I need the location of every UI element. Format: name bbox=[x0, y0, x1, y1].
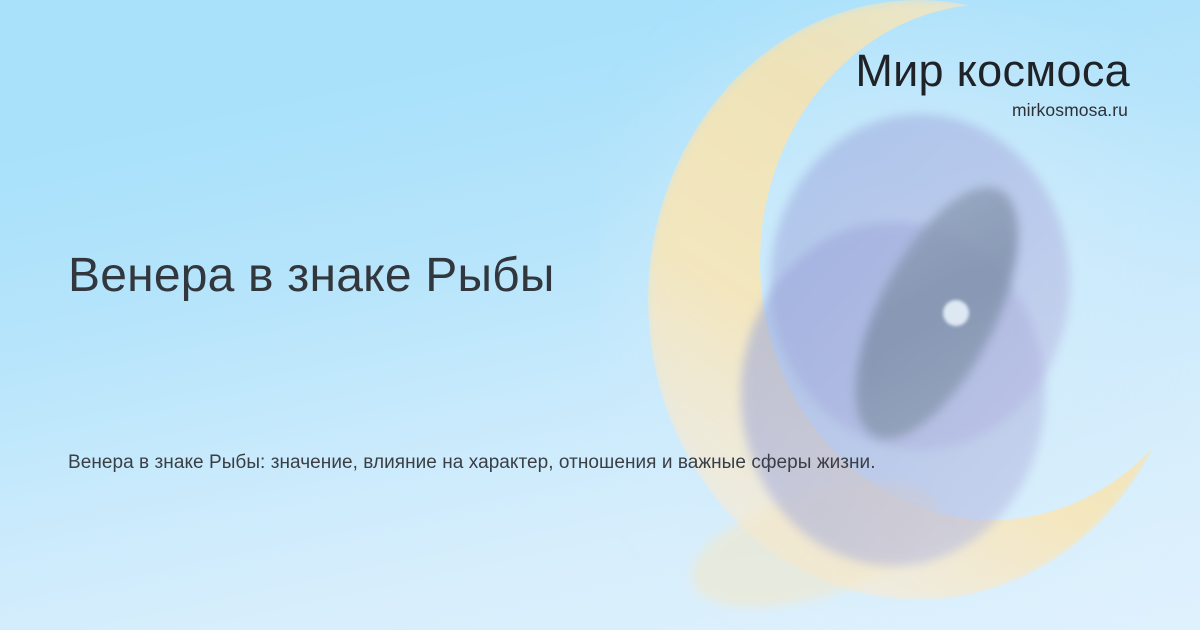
page-description: Венера в знаке Рыбы: значение, влияние н… bbox=[68, 449, 1088, 477]
site-logo-domain: mirkosmosa.ru bbox=[855, 102, 1128, 120]
center-dot bbox=[943, 300, 969, 326]
page-title: Венера в знаке Рыбы bbox=[68, 248, 555, 305]
site-logo-name: Мир космоса bbox=[855, 48, 1130, 93]
site-logo[interactable]: Мир космоса mirkosmosa.ru bbox=[855, 48, 1130, 120]
social-share-card: Мир космоса mirkosmosa.ru Венера в знаке… bbox=[0, 0, 1200, 630]
